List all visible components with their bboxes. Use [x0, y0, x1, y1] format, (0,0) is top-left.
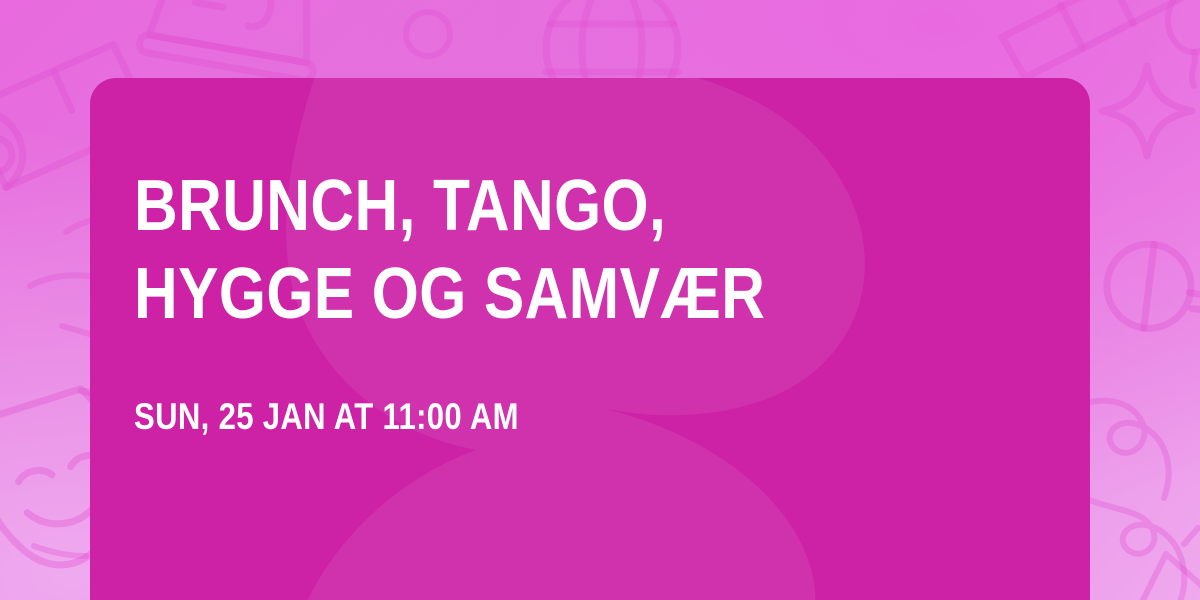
event-date-time: Sun, 25 Jan at 11:00 AM — [134, 395, 519, 439]
event-card: Brunch, Tango, Hygge og Samvær Sun, 25 J… — [90, 78, 1090, 600]
event-title: Brunch, Tango, Hygge og Samvær — [134, 162, 803, 338]
card-content: Brunch, Tango, Hygge og Samvær Sun, 25 J… — [134, 78, 1050, 600]
event-card-banner: Brunch, Tango, Hygge og Samvær Sun, 25 J… — [0, 0, 1200, 600]
